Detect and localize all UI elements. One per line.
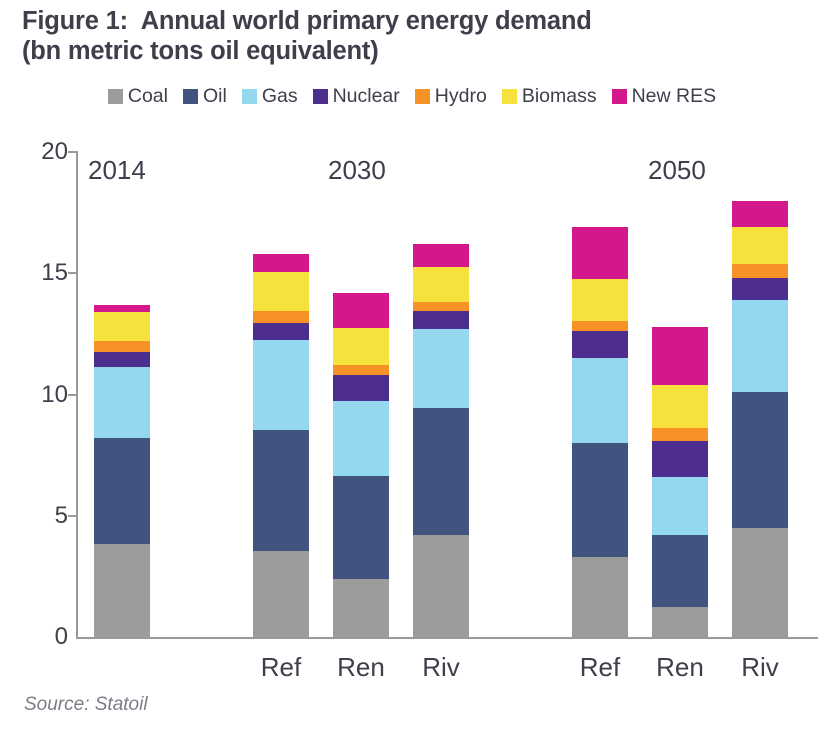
y-tick-label: 20 (8, 138, 68, 166)
stacked-bar-2014-2014[interactable] (94, 305, 150, 637)
bar-segment-gas (413, 329, 469, 408)
bar-segment-hydro (652, 428, 708, 440)
bar-segment-biomass (652, 385, 708, 429)
source-note: Source: Statoil (24, 694, 148, 716)
bar-segment-new-res (572, 227, 628, 279)
x-axis-label-5: Riv (720, 652, 800, 683)
x-axis-label-4: Ren (640, 652, 720, 683)
bar-segment-oil (572, 443, 628, 557)
chart-plot-area: 20151050 201420302050 RefRenRivRefRenRiv (0, 0, 824, 730)
bar-segment-gas (94, 367, 150, 439)
bar-segment-new-res (652, 327, 708, 385)
bar-segment-gas (652, 477, 708, 535)
bar-segment-coal (732, 528, 788, 637)
stacked-bar-2050-riv[interactable] (732, 201, 788, 637)
y-tick-label: 0 (8, 623, 68, 651)
bar-segment-oil (333, 476, 389, 579)
stacked-bar-2050-ref[interactable] (572, 227, 628, 637)
bar-segment-new-res (94, 305, 150, 312)
bar-segment-new-res (732, 201, 788, 228)
bar-segment-hydro (253, 311, 309, 323)
bar-segment-biomass (572, 279, 628, 320)
bar-segment-nuclear (253, 323, 309, 340)
bar-segment-biomass (253, 272, 309, 311)
x-axis-label-0: Ref (241, 652, 321, 683)
x-axis-label-2: Riv (401, 652, 481, 683)
bar-segment-coal (652, 607, 708, 637)
bar-segment-hydro (94, 341, 150, 352)
bar-segment-gas (572, 358, 628, 443)
bar-segment-oil (253, 430, 309, 551)
y-tick-mark (68, 515, 78, 517)
y-tick-mark (68, 272, 78, 274)
stacked-bar-2030-ref[interactable] (253, 254, 309, 637)
bar-segment-new-res (413, 244, 469, 267)
x-axis-line (76, 637, 818, 639)
y-tick-mark (68, 151, 78, 153)
y-tick-mark (68, 394, 78, 396)
bar-segment-hydro (413, 302, 469, 310)
bar-segment-biomass (94, 312, 150, 341)
bar-segment-oil (732, 392, 788, 528)
year-label-2014: 2014 (88, 155, 146, 186)
y-tick-label: 5 (8, 502, 68, 530)
x-axis-label-1: Ren (321, 652, 401, 683)
bar-segment-biomass (333, 328, 389, 366)
y-tick-label: 10 (8, 381, 68, 409)
bar-segment-nuclear (413, 311, 469, 329)
stacked-bar-2030-ren[interactable] (333, 293, 389, 637)
bar-segment-oil (94, 438, 150, 543)
stacked-bar-2030-riv[interactable] (413, 244, 469, 637)
bar-segment-coal (572, 557, 628, 637)
bar-segment-coal (333, 579, 389, 637)
bar-segment-new-res (253, 254, 309, 272)
bar-segment-oil (652, 535, 708, 607)
bar-segment-gas (732, 300, 788, 392)
bar-segment-biomass (732, 227, 788, 263)
year-label-2050: 2050 (648, 155, 706, 186)
year-label-2030: 2030 (328, 155, 386, 186)
bar-segment-biomass (413, 267, 469, 302)
bar-segment-nuclear (94, 352, 150, 367)
bar-segment-nuclear (333, 375, 389, 400)
bar-segment-gas (333, 401, 389, 476)
bar-segment-coal (253, 551, 309, 637)
bar-segment-coal (94, 544, 150, 637)
bar-segment-coal (413, 535, 469, 637)
bar-segment-nuclear (572, 331, 628, 358)
bar-segment-new-res (333, 293, 389, 328)
bar-segment-hydro (333, 365, 389, 375)
y-tick-label: 15 (8, 259, 68, 287)
bar-segment-nuclear (652, 441, 708, 477)
bar-segment-oil (413, 408, 469, 535)
bar-segment-nuclear (732, 278, 788, 300)
stacked-bar-2050-ren[interactable] (652, 327, 708, 637)
bar-segment-gas (253, 340, 309, 430)
bar-segment-hydro (572, 321, 628, 332)
x-axis-label-3: Ref (560, 652, 640, 683)
bar-segment-hydro (732, 264, 788, 279)
